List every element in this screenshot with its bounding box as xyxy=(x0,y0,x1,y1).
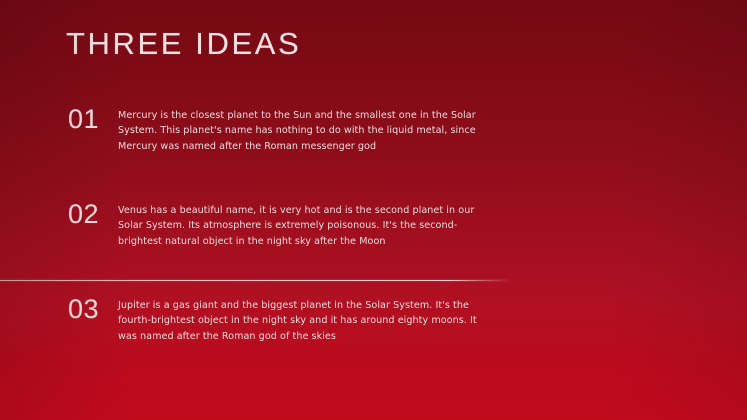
list-item: 02 Venus has a beautiful name, it is ver… xyxy=(0,187,747,282)
item-number-03: 03 xyxy=(68,282,118,323)
item-text-01: Mercury is the closest planet to the Sun… xyxy=(118,92,498,154)
list-item: 01 Mercury is the closest planet to the … xyxy=(0,92,747,187)
item-text-02: Venus has a beautiful name, it is very h… xyxy=(118,187,498,249)
item-number-02: 02 xyxy=(68,187,118,228)
item-divider xyxy=(0,280,510,281)
ideas-list: 01 Mercury is the closest planet to the … xyxy=(0,92,747,377)
item-number-01: 01 xyxy=(68,92,118,133)
item-text-03: Jupiter is a gas giant and the biggest p… xyxy=(118,282,498,344)
page-title: THREE IDEAS xyxy=(66,28,301,59)
list-item: 03 Jupiter is a gas giant and the bigges… xyxy=(0,282,747,377)
presentation-slide: THREE IDEAS 01 Mercury is the closest pl… xyxy=(0,0,747,420)
